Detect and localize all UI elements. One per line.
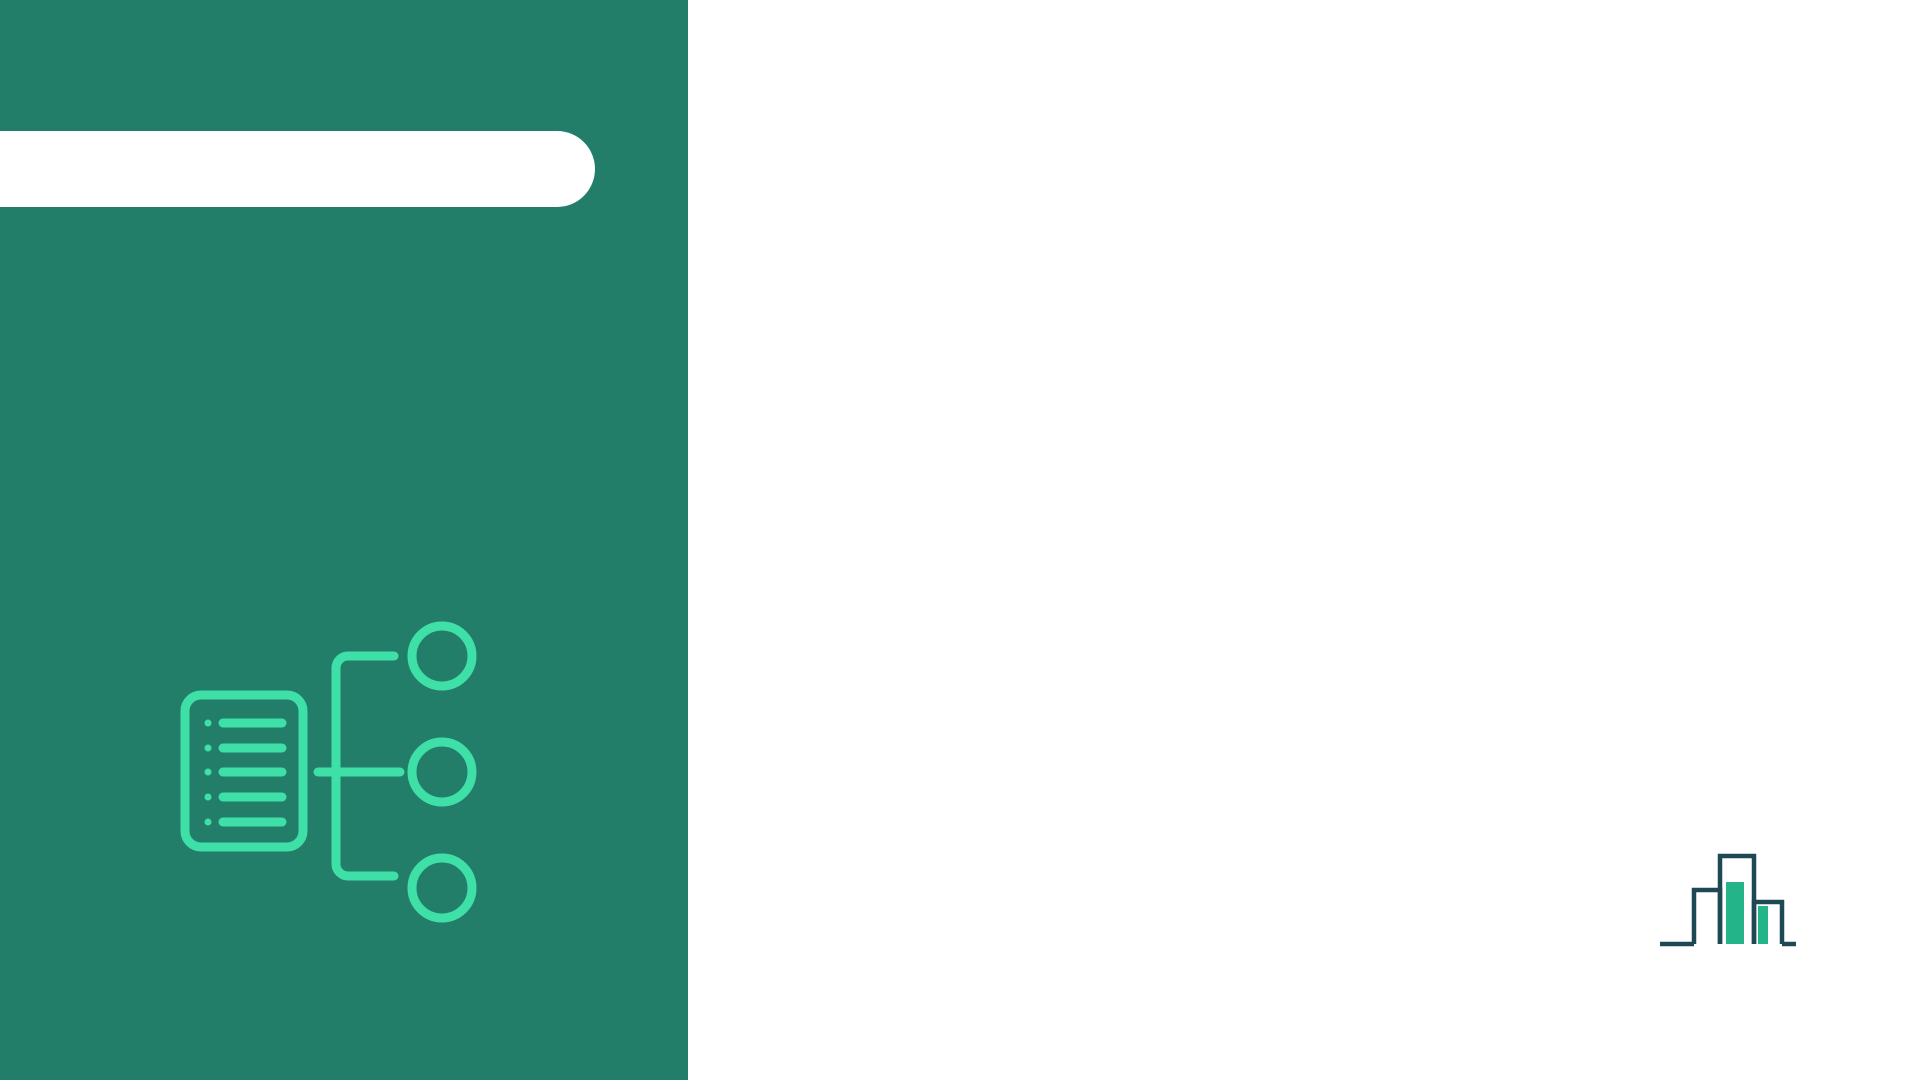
segments-tree-illustration [160, 580, 500, 930]
company-logo [1468, 846, 1798, 956]
company-logo-text [1468, 866, 1683, 867]
bar-chart-logo-mark [1658, 846, 1798, 957]
left-panel [0, 0, 688, 1080]
infographic-root [0, 0, 1920, 1080]
bar-chart [688, 0, 1458, 1080]
section-badge [0, 131, 595, 207]
